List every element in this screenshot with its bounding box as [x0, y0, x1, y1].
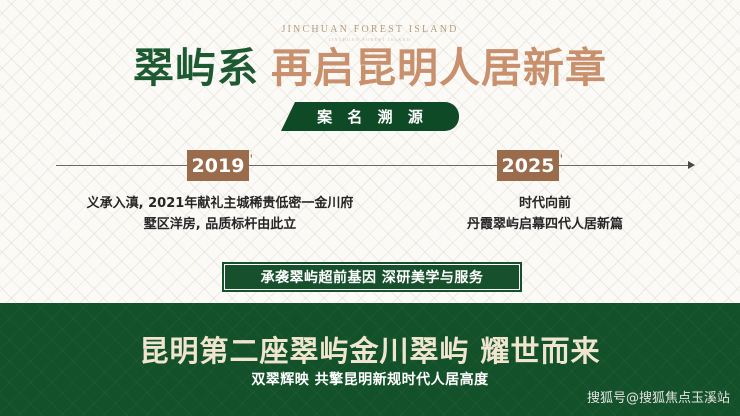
timeline-description: 义承入滇, 2021年献礼主城稀贵低密一金川府 墅区洋房, 品质标杆由此立 — [60, 193, 380, 235]
brand-name-sub: JINCHUAN FOREST ISLAND — [0, 37, 740, 42]
footer-headline: 昆明第二座翠屿金川翠屿 耀世而来 — [0, 328, 740, 370]
section-ribbon-label: 案 名 溯 源 — [312, 106, 428, 127]
timeline-description-line: 丹霞翠屿启幕四代人居新篇 — [432, 214, 658, 235]
timeline-tick-mark: ' — [250, 152, 256, 162]
timeline-axis — [56, 165, 692, 166]
timeline-year-badge: 2025 — [497, 150, 559, 181]
timeline-year-label: 2019 — [192, 155, 245, 177]
caption-text: 承袭翠屿超前基因 深研美学与服务 — [261, 267, 484, 287]
page-title: 翠屿系再启昆明人居新章 — [0, 48, 740, 89]
timeline-description-line: 墅区洋房, 品质标杆由此立 — [60, 214, 380, 235]
timeline-tick-mark: ' — [560, 152, 566, 162]
watermark-label: 搜狐号@搜狐焦点玉溪站 — [587, 387, 730, 406]
timeline-description: 时代向前 丹霞翠屿启幕四代人居新篇 — [432, 193, 658, 235]
timeline-description-line: 义承入滇, 2021年献礼主城稀贵低密一金川府 — [60, 193, 380, 214]
title-series-name: 翠屿系 — [133, 44, 259, 92]
timeline-description-line: 时代向前 — [432, 193, 658, 214]
section-ribbon: 案 名 溯 源 — [281, 102, 459, 131]
title-tagline: 再启昆明人居新章 — [271, 44, 607, 92]
poster-canvas: JINCHUAN FOREST ISLAND JINCHUAN FOREST I… — [0, 0, 740, 416]
timeline-arrow-icon — [688, 161, 695, 169]
footer-band: 昆明第二座翠屿金川翠屿 耀世而来 双翠辉映 共擎昆明新规时代人居高度 搜狐号@搜… — [0, 303, 740, 416]
footer-subheadline: 双翠辉映 共擎昆明新规时代人居高度 — [0, 369, 740, 389]
timeline-year-badge: 2019 — [187, 150, 249, 181]
caption-box: 承袭翠屿超前基因 深研美学与服务 — [222, 262, 522, 292]
brand-lockup: JINCHUAN FOREST ISLAND JINCHUAN FOREST I… — [0, 24, 740, 42]
brand-name-en: JINCHUAN FOREST ISLAND — [0, 24, 740, 35]
timeline-year-label: 2025 — [502, 155, 555, 177]
